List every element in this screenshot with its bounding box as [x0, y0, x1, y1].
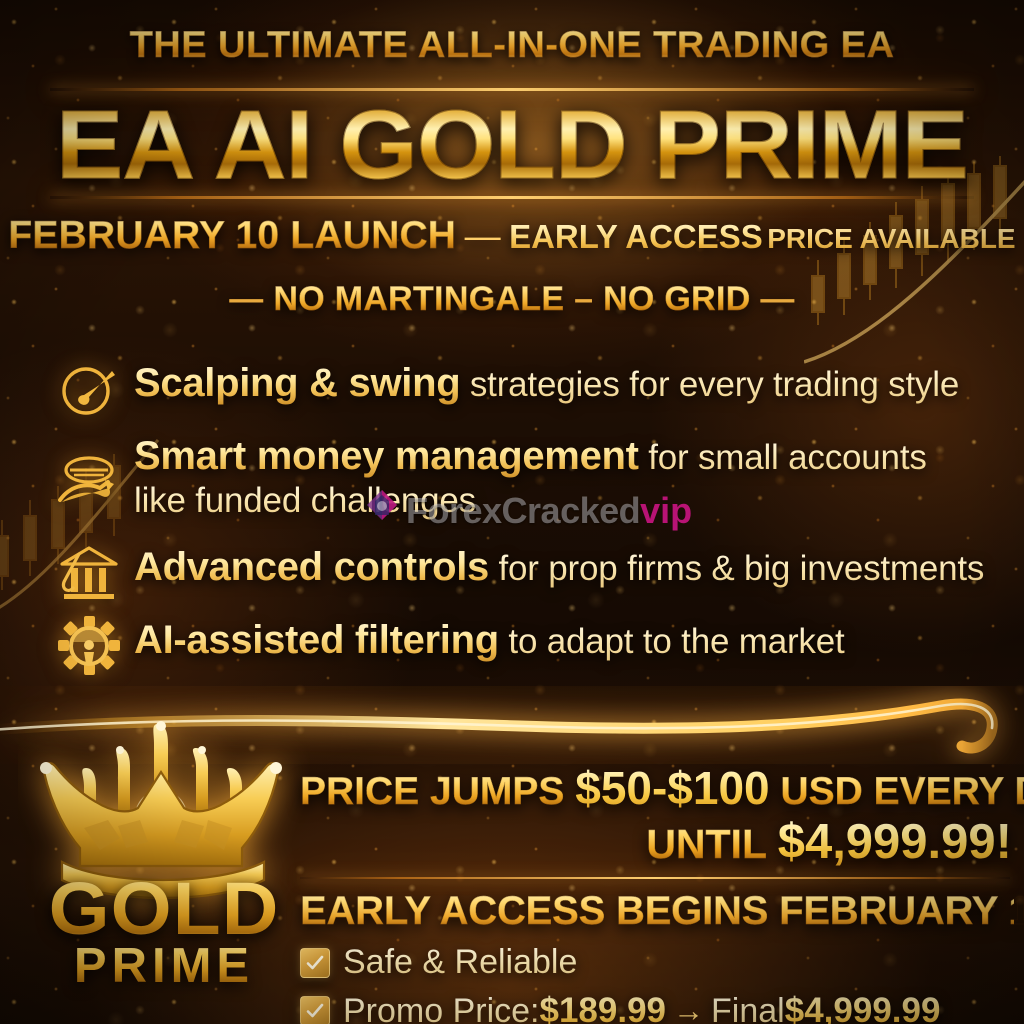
speedometer-icon — [52, 358, 126, 420]
early-access-heading: EARLY ACCESS BEGINS FEBRUARY 10! — [300, 889, 1014, 934]
feature-lead-4: AI-assisted filtering — [134, 618, 499, 662]
feature-item-ai-filtering: AI-assisted filtering to adapt to the ma… — [52, 615, 994, 677]
nomart-dash-left: — — [229, 280, 263, 318]
checkbox-checked-icon[interactable] — [300, 948, 330, 978]
feature-rest-4: to adapt to the market — [499, 622, 845, 661]
price-jump-prefix: PRICE JUMPS — [300, 770, 575, 813]
feature-rest-3: for prop firms & big investments — [489, 549, 984, 588]
early-access-text: EARLY ACCESS — [509, 218, 763, 255]
hand-holding-money-icon — [52, 431, 126, 531]
launch-date-line: FEBRUARY 10 LAUNCH — EARLY ACCESS PRICE … — [0, 214, 1024, 258]
price-jump-suffix: USD EVERY DAY — [770, 770, 1024, 813]
list-item: Safe & Reliable — [300, 943, 1014, 982]
gold-prime-logo: GOLD PRIME — [18, 716, 310, 1012]
page-title: EA AI GOLD PRIME — [0, 96, 1024, 193]
bullet-label-final: Final — [711, 992, 785, 1024]
feature-item-money-management: Smart money management for small account… — [52, 431, 994, 531]
feature-rest2-2: like funded challenges — [134, 481, 476, 520]
list-item: Promo Price: $189.99→ Final $4,999.99 — [300, 991, 1014, 1024]
price-jump-amount: $50-$100 — [575, 762, 769, 814]
logo-word-prime: PRIME — [18, 938, 310, 994]
checkbox-checked-icon[interactable] — [300, 996, 330, 1024]
price-jump-panel: PRICE JUMPS $50-$100 USD EVERY DAY UNTIL… — [300, 764, 1012, 869]
price-final-amount: $4,999.99! — [778, 815, 1012, 869]
arrow-right-icon: → — [666, 993, 711, 1024]
price-jump-line-1: PRICE JUMPS $50-$100 USD EVERY DAY — [300, 764, 1012, 813]
launch-date-text: FEBRUARY 10 LAUNCH — [8, 214, 456, 257]
feature-lead-3: Advanced controls — [134, 545, 489, 589]
promo-price-value: $189.99 — [540, 991, 667, 1024]
feature-text-ai-filtering: AI-assisted filtering to adapt to the ma… — [126, 615, 845, 664]
price-jump-line-2: UNTIL $4,999.99! — [300, 817, 1012, 869]
feature-lead-1: Scalping & swing — [134, 361, 460, 405]
kicker-headline: THE ULTIMATE ALL-IN-ONE TRADING EA — [0, 24, 1024, 66]
bullet-label-safe-reliable: Safe & Reliable — [343, 943, 577, 982]
promo-banner-stage: THE ULTIMATE ALL-IN-ONE TRADING EA EA AI… — [0, 0, 1024, 1024]
launch-dash: — — [461, 215, 505, 256]
feature-rest-1: strategies for every trading style — [460, 365, 959, 404]
feature-item-scalping-swing: Scalping & swing strategies for every tr… — [52, 358, 994, 420]
no-grid-text: NO GRID — [603, 280, 751, 318]
divider-under-title — [50, 196, 974, 199]
nomart-dash-mid: – — [574, 280, 593, 318]
feature-text-advanced-controls: Advanced controls for prop firms & big i… — [126, 542, 984, 591]
feature-text-scalping-swing: Scalping & swing strategies for every tr… — [126, 358, 959, 407]
bullet-label-promo-price: Promo Price: — [343, 992, 540, 1024]
bank-building-icon — [52, 542, 126, 604]
price-available-text: PRICE AVAILABLE — [767, 223, 1015, 254]
no-martingale-line: — NO MARTINGALE – NO GRID — — [0, 280, 1024, 319]
feature-rest-2: for small accounts — [639, 438, 927, 477]
nomart-dash-right: — — [760, 280, 794, 318]
final-price-value: $4,999.99 — [785, 991, 941, 1024]
divider-above-early-access — [300, 877, 1010, 879]
early-access-panel: EARLY ACCESS BEGINS FEBRUARY 10! Safe & … — [300, 889, 1014, 1024]
feature-text-money-management: Smart money management for small account… — [126, 431, 927, 521]
ai-gear-wheel-icon — [52, 615, 126, 677]
no-martingale-text: NO MARTINGALE — [273, 280, 564, 318]
price-until-prefix: UNTIL — [646, 821, 777, 867]
feature-lead-2: Smart money management — [134, 434, 639, 478]
feature-item-advanced-controls: Advanced controls for prop firms & big i… — [52, 542, 994, 604]
feature-list: Scalping & swing strategies for every tr… — [52, 358, 994, 688]
